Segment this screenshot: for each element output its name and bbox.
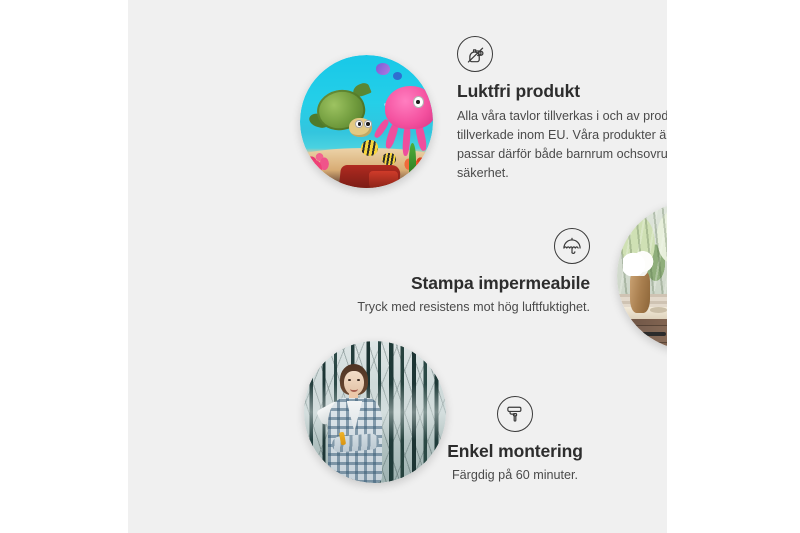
content-panel: Luktfri produkt Alla våra tavlor tillver… (128, 0, 667, 533)
feature-title: Stampa impermeabile (310, 273, 590, 294)
octopus-head-shape (385, 86, 433, 130)
feature-body: Tryck med resistens mot hög luftfuktighe… (310, 298, 590, 317)
underwater-cartoon-photo (300, 55, 433, 188)
feature-body: Färgdig på 60 minuter. (400, 466, 630, 485)
feature-title: Luktfri produkt (457, 81, 667, 102)
no-fragrance-icon (457, 36, 493, 72)
white-flowers-shape (623, 251, 656, 276)
product-feature-infographic: Luktfri produkt Alla våra tavlor tillver… (0, 0, 800, 533)
paint-roller-icon (497, 396, 533, 432)
feature-block-waterproof-print: Stampa impermeabile Tryck med resistens … (310, 228, 590, 317)
soap-dish-shape (650, 307, 667, 313)
underwater-cartoon-photo-clip (300, 55, 433, 188)
bathroom-wallpaper-photo-clip (617, 202, 667, 350)
seaweed-shape (409, 143, 416, 178)
umbrella-icon (554, 228, 590, 264)
vase-shape (630, 272, 649, 313)
feature-title: Enkel montering (400, 441, 630, 462)
shipwreck-detail-shape (369, 171, 398, 188)
pink-coral-shape (304, 135, 341, 175)
yellow-striped-fish-shape (382, 153, 395, 165)
bathroom-wallpaper-photo (617, 202, 667, 350)
drawer-pull-shape (641, 332, 666, 336)
feature-block-easy-assembly: Enkel montering Färgdig på 60 minuter. (400, 396, 630, 485)
feature-block-odour-free: Luktfri produkt Alla våra tavlor tillver… (457, 36, 667, 184)
feature-body: Alla våra tavlor tillverkas i och av pro… (457, 107, 667, 184)
turtle-pupil-shape (366, 122, 369, 126)
turtle-pupil-shape (358, 122, 361, 126)
